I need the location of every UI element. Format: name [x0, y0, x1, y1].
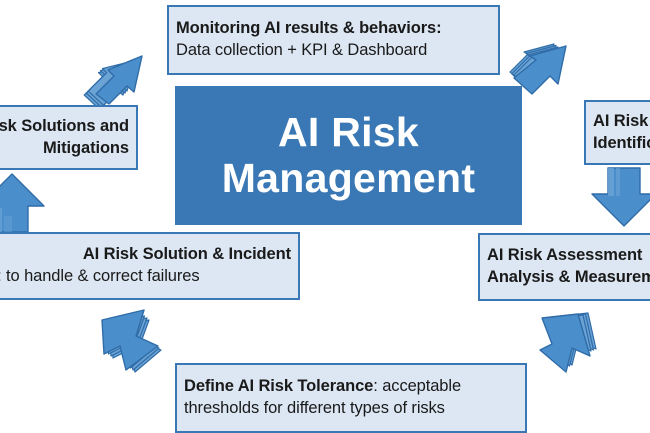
box-response-line1: AI Risk Solution & Incident [0, 244, 298, 266]
box-risk-identification[interactable]: AI Risk Identification [584, 100, 650, 165]
arrow-down-icon [592, 168, 650, 234]
box-risk-assessment[interactable]: AI Risk Assessment Analysis & Measuremen… [478, 233, 650, 301]
box-identification-line2: Identification [586, 133, 650, 155]
hub-title-line1: AI Risk [278, 110, 419, 156]
box-assessment-line1: AI Risk Assessment [480, 245, 650, 267]
box-tolerance-line1-rest: : acceptable [373, 377, 461, 395]
box-response-line2: Response: to handle & correct failures [0, 266, 298, 288]
arrow-down-left-icon [528, 302, 628, 394]
box-solutions-line2: Mitigations [0, 138, 136, 160]
box-monitoring-line1: Monitoring AI results & behaviors: [169, 18, 498, 40]
box-monitoring[interactable]: Monitoring AI results & behaviors: Data … [167, 5, 500, 75]
arrow-up-icon [0, 172, 52, 238]
box-risk-response[interactable]: AI Risk Solution & Incident Response: to… [0, 232, 300, 300]
box-risk-solutions[interactable]: AI Risk Solutions and Mitigations [0, 105, 138, 170]
box-risk-tolerance[interactable]: Define AI Risk Tolerance: acceptable thr… [175, 363, 527, 433]
box-response-line2-rest: : to handle & correct failures [0, 267, 200, 285]
box-monitoring-line2: Data collection + KPI & Dashboard [169, 40, 498, 62]
box-tolerance-line1: Define AI Risk Tolerance: acceptable [177, 376, 525, 398]
box-tolerance-line2: thresholds for different types of risks [177, 398, 525, 420]
box-assessment-line2: Analysis & Measurement [480, 267, 650, 289]
box-identification-line1: AI Risk [586, 111, 650, 133]
box-tolerance-line1-bold: Define AI Risk Tolerance [184, 377, 373, 395]
center-hub: AI Risk Management [175, 86, 522, 225]
hub-title-line2: Management [222, 156, 476, 202]
diagram-canvas: AI Risk Management Monitoring AI results… [0, 0, 650, 433]
box-solutions-line1: AI Risk Solutions and [0, 116, 136, 138]
